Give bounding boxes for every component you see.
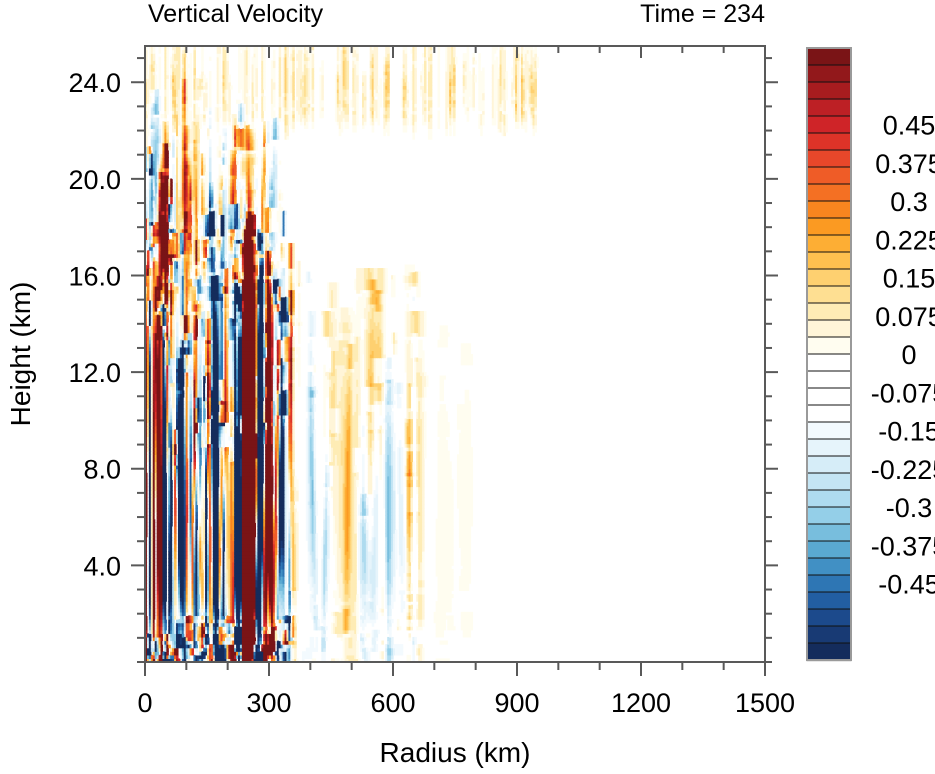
colorbar-band xyxy=(807,473,851,491)
time-annotation: Time = 234 xyxy=(640,0,765,28)
colorbar-tick-label: -0.375 xyxy=(871,531,935,561)
colorbar-band xyxy=(807,456,851,474)
x-tick-label: 600 xyxy=(370,688,415,718)
colorbar-band xyxy=(807,303,851,321)
y-tick-label: 4.0 xyxy=(83,551,121,581)
page-title: Vertical Velocity xyxy=(148,0,324,28)
colorbar-tick-label: 0.225 xyxy=(875,225,935,255)
y-axis-label: Height (km) xyxy=(5,282,36,427)
colorbar-band xyxy=(807,507,851,525)
colorbar-band xyxy=(807,269,851,287)
colorbar-band xyxy=(807,541,851,559)
colorbar-band xyxy=(807,133,851,151)
colorbar-tick-label: 0.45 xyxy=(883,111,935,141)
colorbar-tick-label: -0.225 xyxy=(871,455,935,485)
colorbar-band xyxy=(807,388,851,406)
colorbar-band xyxy=(807,558,851,576)
colorbar-band xyxy=(807,643,851,661)
colorbar-band xyxy=(807,184,851,202)
x-axis-label: Radius (km) xyxy=(380,737,531,768)
x-tick-label: 1500 xyxy=(735,688,795,718)
y-tick-label: 16.0 xyxy=(68,261,121,291)
colorbar-band xyxy=(807,286,851,304)
colorbar-tick-label: -0.075 xyxy=(871,378,935,408)
colorbar-tick-label: 0.15 xyxy=(883,264,935,294)
colorbar-band xyxy=(807,150,851,168)
colorbar-band xyxy=(807,235,851,253)
colorbar-band xyxy=(807,218,851,236)
colorbar-band xyxy=(807,99,851,117)
colorbar-band xyxy=(807,626,851,644)
y-tick-label: 12.0 xyxy=(68,358,121,388)
colorbar-band xyxy=(807,592,851,610)
x-tick-label: 300 xyxy=(246,688,291,718)
colorbar-band xyxy=(807,337,851,355)
colorbar-tick-label: -0.3 xyxy=(886,493,933,523)
y-tick-label: 24.0 xyxy=(68,68,121,98)
colorbar-band xyxy=(807,354,851,372)
x-tick-label: 900 xyxy=(494,688,539,718)
colorbar-band xyxy=(807,48,851,66)
colorbar-band xyxy=(807,82,851,100)
colorbar-tick-label: -0.45 xyxy=(878,570,935,600)
colorbar-band xyxy=(807,371,851,389)
colorbar-band xyxy=(807,116,851,134)
y-tick-label: 8.0 xyxy=(83,455,121,485)
colorbar-band xyxy=(807,422,851,440)
colorbar-band xyxy=(807,609,851,627)
colorbar-band xyxy=(807,167,851,185)
colorbar-tick-label: 0 xyxy=(901,340,916,370)
vertical-velocity-figure: Vertical Velocity Time = 234 03006009001… xyxy=(0,0,935,774)
colorbar-band xyxy=(807,252,851,270)
colorbar-tick-label: -0.15 xyxy=(878,417,935,447)
y-tick-label: 20.0 xyxy=(68,165,121,195)
colorbar-band xyxy=(807,524,851,542)
colorbar-band xyxy=(807,201,851,219)
x-tick-label: 0 xyxy=(137,688,152,718)
colorbar-band xyxy=(807,65,851,83)
colorbar-tick-label: 0.075 xyxy=(875,302,935,332)
colorbar-band xyxy=(807,405,851,423)
colorbar[interactable] xyxy=(807,48,851,661)
colorbar-tick-label: 0.3 xyxy=(890,187,928,217)
colorbar-band xyxy=(807,575,851,593)
colorbar-band xyxy=(807,439,851,457)
x-tick-label: 1200 xyxy=(611,688,671,718)
colorbar-band xyxy=(807,490,851,508)
colorbar-tick-label: 0.375 xyxy=(875,149,935,179)
colorbar-band xyxy=(807,320,851,338)
